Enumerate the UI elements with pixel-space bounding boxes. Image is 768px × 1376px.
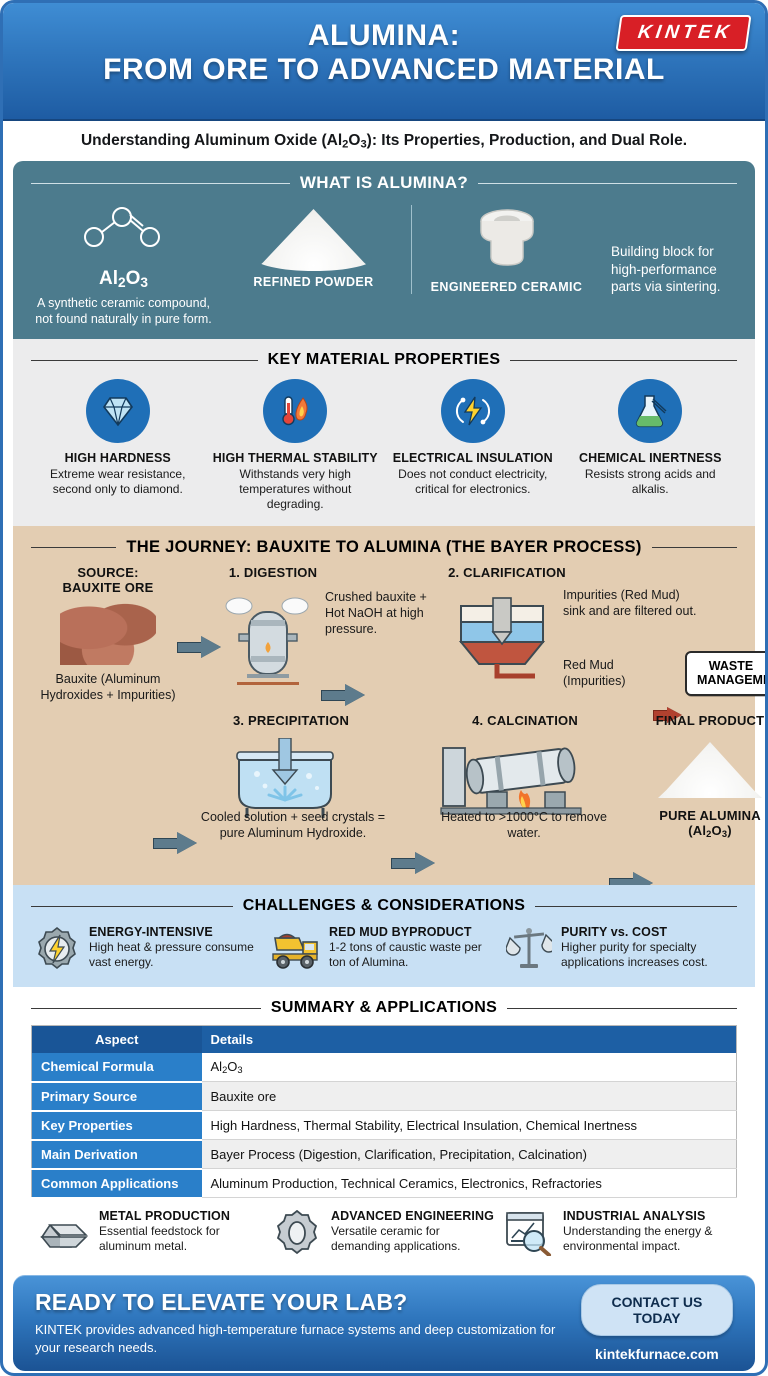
row-detail: Aluminum Production, Technical Ceramics,… [202, 1169, 737, 1198]
summary-table: Aspect Details Chemical Formula Al2O3 Pr… [31, 1025, 737, 1199]
property-card: HIGH THERMAL STABILITY Withstands very h… [207, 379, 385, 512]
alumina-formula: Al2O3 [31, 268, 216, 290]
final-title: FINAL PRODUCT [645, 713, 768, 728]
step1-caption: Crushed bauxite + Hot NaOH at high press… [325, 589, 445, 637]
challenge-desc: 1-2 tons of caustic waste per ton of Alu… [329, 940, 499, 970]
step4-caption: Heated to >1000°C to remove water. [429, 809, 619, 841]
property-desc: Resists strong acids and alkalis. [568, 467, 734, 497]
digestion-vessel-icon [213, 594, 323, 690]
section-key-properties: KEY MATERIAL PROPERTIES HIGH HARDNESS Ex… [13, 339, 755, 526]
property-name: HIGH THERMAL STABILITY [213, 451, 379, 465]
divider-right [510, 360, 737, 361]
kintek-logo[interactable]: KINTEK [616, 15, 752, 51]
application-name: INDUSTRIAL ANALYSIS [563, 1209, 729, 1223]
table-header-row: Aspect Details [32, 1026, 737, 1054]
dump-truck-icon [269, 928, 321, 970]
property-name: ELECTRICAL INSULATION [390, 451, 556, 465]
section-title: SUMMARY & APPLICATIONS [271, 999, 497, 1017]
sintering-note: Building block for high-performance part… [611, 243, 737, 296]
source-title-line1: SOURCE: [33, 565, 183, 580]
gear-icon [274, 1210, 320, 1256]
source-title-line2: BAUXITE ORE [33, 580, 183, 595]
application-card: METAL PRODUCTION Essential feedstock for… [39, 1209, 265, 1257]
step2-title: 2. CLARIFICATION [443, 565, 571, 580]
challenge-desc: High heat & pressure consume vast energy… [89, 940, 263, 970]
property-desc: Extreme wear resistance, second only to … [35, 467, 201, 497]
property-card: CHEMICAL INERTNESS Resists strong acids … [562, 379, 740, 512]
property-name: CHEMICAL INERTNESS [568, 451, 734, 465]
section-title: THE JOURNEY: BAUXITE TO ALUMINA (THE BAY… [126, 538, 641, 557]
challenge-icon [269, 925, 321, 973]
divider-left [31, 547, 116, 548]
pure-alumina-icon [658, 742, 762, 798]
application-icon [39, 1209, 91, 1257]
application-icon [271, 1209, 323, 1257]
application-name: METAL PRODUCTION [99, 1209, 265, 1223]
divider-right [652, 547, 737, 548]
engineered-ceramic-block: ENGINEERED CERAMIC [411, 205, 601, 294]
row-detail: Bauxite ore [202, 1082, 737, 1111]
section-header: SUMMARY & APPLICATIONS [25, 993, 743, 1025]
waste-box-line1: WASTE [697, 659, 765, 673]
chart-magnifier-icon [504, 1210, 554, 1256]
step3-title: 3. PRECIPITATION [201, 713, 381, 728]
application-card: INDUSTRIAL ANALYSIS Understanding the en… [503, 1209, 729, 1257]
bayer-step-1: 1. DIGESTION [213, 565, 333, 695]
divider-left [31, 183, 290, 184]
footer-desc: KINTEK provides advanced high-temperatur… [35, 1321, 581, 1355]
ceramic-caption: ENGINEERED CERAMIC [412, 280, 601, 294]
footer-url[interactable]: kintekfurnace.com [581, 1346, 733, 1362]
sintering-note-block: Building block for high-performance part… [601, 205, 737, 296]
powder-caption: REFINED POWDER [216, 275, 411, 289]
source-caption: Bauxite (Aluminum Hydroxides + Impuritie… [33, 671, 183, 703]
step1-title: 1. DIGESTION [213, 565, 333, 580]
section-header: CHALLENGES & CONSIDERATIONS [25, 891, 743, 923]
application-desc: Essential feedstock for aluminum metal. [99, 1224, 265, 1254]
challenge-desc: Higher purity for specialty applications… [561, 940, 735, 970]
table-row: Key Properties High Hardness, Thermal St… [32, 1111, 737, 1140]
refined-powder-block: REFINED POWDER [216, 205, 411, 289]
infographic-page: ALUMINA: FROM ORE TO ADVANCED MATERIAL K… [0, 0, 768, 1376]
step3-caption-block: Cooled solution + seed crystals = pure A… [193, 809, 393, 841]
table-row: Common Applications Aluminum Production,… [32, 1169, 737, 1198]
application-name: ADVANCED ENGINEERING [331, 1209, 497, 1223]
step4-title: 4. CALCINATION [435, 713, 615, 728]
footer-action-block: CONTACT US TODAY kintekfurnace.com [581, 1284, 733, 1362]
row-detail: Al2O3 [202, 1053, 737, 1082]
flow-arrow-digestion-to-clarification [321, 685, 365, 705]
step3-caption: Cooled solution + seed crystals = pure A… [193, 809, 393, 841]
row-aspect: Main Derivation [32, 1140, 202, 1169]
property-card: ELECTRICAL INSULATION Does not conduct e… [384, 379, 562, 512]
row-detail: High Hardness, Thermal Stability, Electr… [202, 1111, 737, 1140]
section-header: WHAT IS ALUMINA? [25, 167, 743, 201]
row-detail: Bayer Process (Digestion, Clarification,… [202, 1140, 737, 1169]
challenge-card: PURITY vs. COST Higher purity for specia… [505, 925, 735, 973]
step2-caption-block: Impurities (Red Mud) sink and are filter… [563, 587, 701, 619]
property-card: HIGH HARDNESS Extreme wear resistance, s… [29, 379, 207, 512]
waste-box-line2: MANAGEMENT [697, 673, 765, 687]
red-mud-label-block: Red Mud (Impurities) [563, 657, 651, 689]
final-name: PURE ALUMINA [645, 808, 768, 823]
footer-text-block: READY TO ELEVATE YOUR LAB? KINTEK provid… [35, 1289, 581, 1355]
application-desc: Versatile ceramic for demanding applicat… [331, 1224, 497, 1254]
section-what-is-alumina: WHAT IS ALUMINA? Al2O3 A synthetic ceram… [13, 161, 755, 339]
section-header: THE JOURNEY: BAUXITE TO ALUMINA (THE BAY… [25, 532, 743, 565]
contact-us-button[interactable]: CONTACT US TODAY [581, 1284, 733, 1336]
divider-left [31, 1008, 261, 1009]
challenge-name: PURITY vs. COST [561, 925, 735, 939]
row-aspect: Common Applications [32, 1169, 202, 1198]
bayer-step-2: 2. CLARIFICATION [443, 565, 571, 693]
column-header-aspect: Aspect [32, 1026, 202, 1054]
property-icon-badge [86, 379, 150, 443]
table-row: Chemical Formula Al2O3 [32, 1053, 737, 1082]
molecule-diagram-icon [76, 205, 172, 261]
clarification-tank-icon [443, 592, 561, 688]
divider-left [31, 360, 258, 361]
divider-right [507, 1008, 737, 1009]
bauxite-ore-icon [60, 603, 156, 665]
section-header: KEY MATERIAL PROPERTIES [25, 345, 743, 377]
footer-title: READY TO ELEVATE YOUR LAB? [35, 1289, 581, 1316]
divider-left [31, 906, 233, 907]
step1-caption-block: Crushed bauxite + Hot NaOH at high press… [325, 589, 445, 637]
balance-scale-icon [506, 926, 552, 972]
flow-arrow-to-calcination [391, 853, 435, 873]
property-icon-badge [441, 379, 505, 443]
section-title: WHAT IS ALUMINA? [300, 173, 468, 193]
application-card: ADVANCED ENGINEERING Versatile ceramic f… [271, 1209, 497, 1257]
row-aspect: Primary Source [32, 1082, 202, 1111]
section-summary: SUMMARY & APPLICATIONS Aspect Details Ch… [13, 987, 755, 1271]
column-header-details: Details [202, 1026, 737, 1054]
thermometer-flame-icon [277, 393, 313, 429]
application-icon [503, 1209, 555, 1257]
bayer-source-block: SOURCE: BAUXITE ORE Bauxite (Aluminum Hy… [33, 565, 183, 703]
title-line-2: FROM ORE TO ADVANCED MATERIAL [3, 53, 765, 87]
ceramic-ring-icon [459, 205, 555, 271]
section-title: CHALLENGES & CONSIDERATIONS [243, 897, 525, 915]
table-row: Main Derivation Bayer Process (Digestion… [32, 1140, 737, 1169]
challenge-name: RED MUD BYPRODUCT [329, 925, 499, 939]
powder-pile-icon [254, 209, 374, 271]
property-icon-badge [263, 379, 327, 443]
property-icon-badge [618, 379, 682, 443]
divider-right [478, 183, 737, 184]
challenge-card: RED MUD BYPRODUCT 1-2 tons of caustic wa… [269, 925, 499, 973]
property-desc: Does not conduct electricity, critical f… [390, 467, 556, 497]
page-subtitle: Understanding Aluminum Oxide (Al2O3): It… [3, 121, 765, 161]
section-title: KEY MATERIAL PROPERTIES [268, 351, 501, 369]
final-formula: (Al2O3) [645, 823, 768, 839]
application-desc: Understanding the energy & environmental… [563, 1224, 729, 1254]
footer-cta: READY TO ELEVATE YOUR LAB? KINTEK provid… [13, 1275, 755, 1371]
challenge-card: ENERGY-INTENSIVE High heat & pressure co… [33, 925, 263, 973]
alumina-definition-block: Al2O3 A synthetic ceramic compound, not … [31, 205, 216, 327]
row-aspect: Key Properties [32, 1111, 202, 1140]
challenge-name: ENERGY-INTENSIVE [89, 925, 263, 939]
row-aspect: Chemical Formula [32, 1053, 202, 1082]
challenge-icon [33, 925, 81, 973]
step2-caption: Impurities (Red Mud) sink and are filter… [563, 587, 701, 619]
bayer-final-product: FINAL PRODUCT PURE ALUMINA (Al2O3) [645, 713, 768, 839]
property-desc: Withstands very high temperatures withou… [213, 467, 379, 512]
alumina-definition-text: A synthetic ceramic compound, not found … [31, 295, 216, 327]
red-mud-label: Red Mud (Impurities) [563, 657, 651, 689]
diamond-icon [101, 394, 135, 428]
divider-right [535, 906, 737, 907]
step4-caption-block: Heated to >1000°C to remove water. [429, 809, 619, 841]
challenge-icon [505, 925, 553, 973]
table-row: Primary Source Bauxite ore [32, 1082, 737, 1111]
flask-icon [632, 393, 668, 429]
page-header: ALUMINA: FROM ORE TO ADVANCED MATERIAL K… [3, 3, 765, 121]
applications-row: METAL PRODUCTION Essential feedstock for… [25, 1199, 743, 1265]
section-bayer-process: THE JOURNEY: BAUXITE TO ALUMINA (THE BAY… [13, 526, 755, 885]
lightning-bolt-icon [455, 393, 491, 429]
gear-bolt-icon [34, 926, 80, 972]
waste-management-box[interactable]: WASTE MANAGEMENT [685, 651, 768, 696]
section-challenges: CHALLENGES & CONSIDERATIONS ENERGY-INTEN… [13, 885, 755, 987]
metal-ingot-icon [40, 1213, 90, 1253]
property-name: HIGH HARDNESS [35, 451, 201, 465]
flow-arrow-to-precipitation [153, 833, 197, 853]
